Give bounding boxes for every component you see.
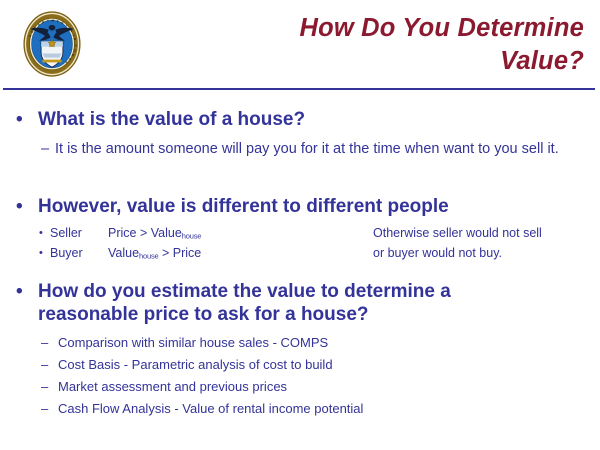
role-label-buyer: Buyer <box>50 243 83 263</box>
dash-marker-icon: – <box>41 140 49 159</box>
formula-seller-subscript: house <box>182 231 201 240</box>
bullet-marker-icon: • <box>39 243 43 263</box>
method-label-market-assessment: Market assessment and previous prices <box>58 379 287 394</box>
formula-seller-prefix: Price > Value <box>108 226 182 240</box>
bullet-value-differs: • However, value is different to differe… <box>0 195 598 218</box>
formula-buyer-prefix: Value <box>108 246 139 260</box>
method-label-cost-basis: Cost Basis - Parametric analysis of cost… <box>58 357 333 372</box>
formula-buyer-subscript: house <box>139 251 158 260</box>
dash-marker-icon: – <box>41 333 48 353</box>
bullet-marker-icon: • <box>16 195 23 218</box>
bullet-value-of-house: • What is the value of a house? <box>0 108 598 131</box>
bullet-value-of-house-label: What is the value of a house? <box>38 109 305 130</box>
formula-buyer: Valuehouse > Price <box>108 243 201 266</box>
slide-body: • What is the value of a house? – It is … <box>0 90 600 450</box>
dash-marker-icon: – <box>41 377 48 397</box>
method-label-comps: Comparison with similar house sales - CO… <box>58 335 328 350</box>
bullet-estimate-value: • How do you estimate the value to deter… <box>0 280 508 326</box>
bullet-marker-icon: • <box>39 223 43 243</box>
bullet-marker-icon: • <box>16 108 23 131</box>
subbullet-value-definition: – It is the amount someone will pay you … <box>0 140 575 159</box>
list-item: – Market assessment and previous prices <box>0 377 560 399</box>
valuation-methods-list: – Comparison with similar house sales - … <box>0 333 560 421</box>
bullet-estimate-value-label: How do you estimate the value to determi… <box>38 281 451 325</box>
table-row: • Seller Price > Valuehouse Otherwise se… <box>0 223 600 243</box>
list-item: – Cost Basis - Parametric analysis of co… <box>0 355 560 377</box>
subbullet-value-definition-label: It is the amount someone will pay you fo… <box>55 141 559 157</box>
list-item: – Cash Flow Analysis - Value of rental i… <box>0 399 560 421</box>
slide: D E P A R T M E N T A I R F O R C <box>0 0 600 450</box>
role-label-seller: Seller <box>50 223 82 243</box>
method-label-cash-flow: Cash Flow Analysis - Value of rental inc… <box>58 401 363 416</box>
title-line-1: How Do You Determine <box>299 14 584 42</box>
seller-buyer-table: • Seller Price > Valuehouse Otherwise se… <box>0 223 600 263</box>
dash-marker-icon: – <box>41 399 48 419</box>
title-line-2: Value? <box>500 47 584 75</box>
list-item: – Comparison with similar house sales - … <box>0 333 560 355</box>
bullet-value-differs-label: However, value is different to different… <box>38 196 449 217</box>
formula-buyer-suffix: > Price <box>158 246 201 260</box>
slide-header: D E P A R T M E N T A I R F O R C <box>0 0 600 90</box>
dash-marker-icon: – <box>41 355 48 375</box>
note-seller: Otherwise seller would not sell <box>373 223 542 243</box>
note-buyer: or buyer would not buy. <box>373 243 502 263</box>
table-row: • Buyer Valuehouse > Price or buyer woul… <box>0 243 600 263</box>
bullet-marker-icon: • <box>16 280 23 303</box>
air-force-seal-icon: D E P A R T M E N T A I R F O R C <box>18 4 86 84</box>
slide-title: How Do You Determine Value? <box>150 12 584 77</box>
